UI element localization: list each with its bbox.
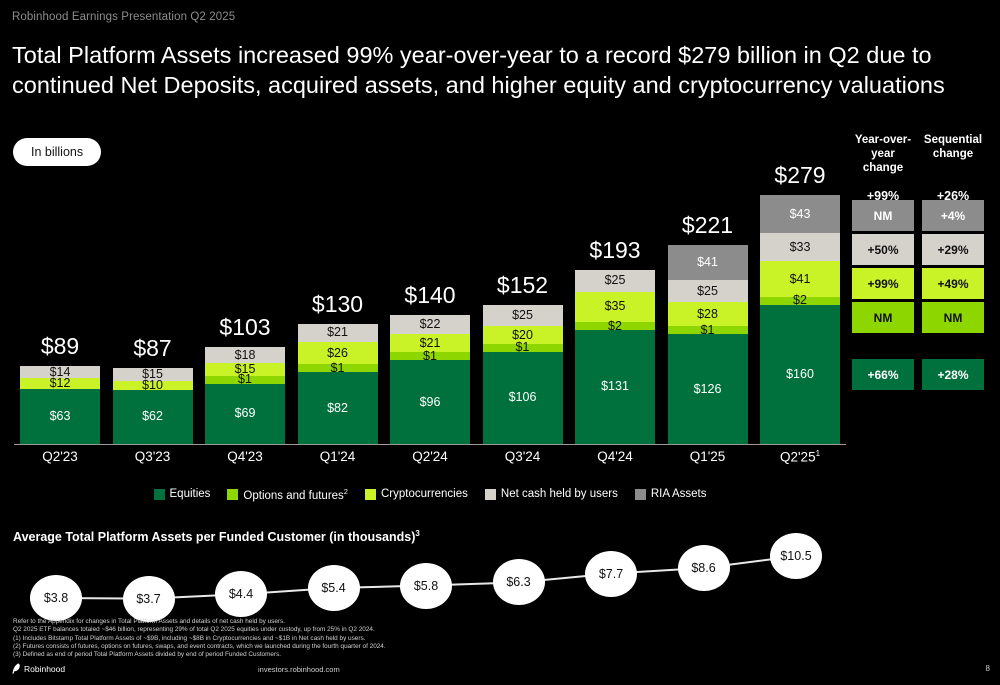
bar-segment-label: $62 xyxy=(142,410,163,423)
legend-swatch-icon xyxy=(227,489,238,500)
x-axis-label-Q225: Q2'251 xyxy=(754,449,846,465)
bar-segment-label: $126 xyxy=(694,383,722,396)
bar-segment-options[interactable]: $1 xyxy=(205,376,285,384)
legend-equities[interactable]: Equities xyxy=(154,488,211,500)
change-row-equities: +66%+28% xyxy=(852,359,984,390)
bar-segment-equities[interactable]: $131 xyxy=(575,330,655,444)
x-axis-label-Q223: Q2'23 xyxy=(14,449,106,464)
bar-segment-equities[interactable]: $82 xyxy=(298,372,378,443)
bar-segment-label: $25 xyxy=(605,274,626,287)
bar-segment-label: $63 xyxy=(50,410,71,423)
footnote-5: (3) Defined as end of period Total Platf… xyxy=(13,651,613,659)
bar-segment-label: $20 xyxy=(512,329,533,342)
bar-segment-label: $25 xyxy=(512,309,533,322)
x-axis-label-Q224: Q2'24 xyxy=(384,449,476,464)
bar-segment-equities[interactable]: $106 xyxy=(483,352,563,444)
line-node-Q224[interactable]: $5.8 xyxy=(400,563,452,609)
bar-segment-label: $22 xyxy=(420,318,441,331)
change-cell-equities-yoy: +66% xyxy=(852,359,914,390)
x-axis-label-Q424: Q4'24 xyxy=(569,449,661,464)
legend-label: RIA Assets xyxy=(651,488,707,500)
bar-segment-options[interactable]: $1 xyxy=(298,364,378,372)
bar-total-label: $279 xyxy=(760,162,840,189)
line-node-Q323[interactable]: $3.7 xyxy=(123,576,175,622)
bar-segment-label: $25 xyxy=(697,285,718,298)
x-axis-label-Q423: Q4'23 xyxy=(199,449,291,464)
stacked-bar-chart: $14$12$63$89$15$10$62$87$18$15$1$69$103$… xyxy=(0,170,860,445)
avg-assets-line-chart: $3.8$3.7$4.4$5.4$5.8$6.3$7.7$8.6$10.5 xyxy=(0,545,860,615)
bar-group-Q125[interactable]: $41$25$28$1$126$221 xyxy=(668,245,748,444)
line-node-Q423[interactable]: $4.4 xyxy=(215,571,267,617)
line-node-Q424[interactable]: $7.7 xyxy=(585,551,637,597)
change-row-spacer xyxy=(852,336,984,359)
x-axis-label-Q323: Q3'23 xyxy=(107,449,199,464)
page-title: Total Platform Assets increased 99% year… xyxy=(12,40,972,100)
bar-segment-options[interactable]: $1 xyxy=(668,326,748,334)
legend-label: Equities xyxy=(170,488,211,500)
line-node-Q223[interactable]: $3.8 xyxy=(30,575,82,621)
yoy-column-header: Year-over- year change xyxy=(852,133,914,175)
bar-segment-equities[interactable]: $160 xyxy=(760,305,840,444)
bar-segment-equities[interactable]: $126 xyxy=(668,334,748,443)
change-cell-crypto-seq: +49% xyxy=(922,268,984,299)
bar-segment-label: $41 xyxy=(790,273,811,286)
bar-segment-label: $43 xyxy=(790,208,811,221)
legend-netcash[interactable]: Net cash held by users xyxy=(485,488,618,500)
bar-segment-label: $35 xyxy=(605,300,626,313)
units-badge: In billions xyxy=(13,138,101,166)
bar-group-Q424[interactable]: $25$35$2$131$193 xyxy=(575,270,655,444)
bar-segment-crypto[interactable]: $41 xyxy=(760,261,840,297)
x-axis-label-Q124: Q1'24 xyxy=(292,449,384,464)
legend-swatch-icon xyxy=(485,489,496,500)
bar-total-label: $103 xyxy=(205,314,285,341)
bar-group-Q224[interactable]: $22$21$1$96$140 xyxy=(390,315,470,444)
bar-segment-equities[interactable]: $69 xyxy=(205,384,285,444)
bar-segment-label: $28 xyxy=(697,308,718,321)
change-cell-ria-yoy: NM xyxy=(852,200,914,231)
brand-name: Robinhood xyxy=(24,664,65,674)
legend-swatch-icon xyxy=(365,489,376,500)
bar-group-Q423[interactable]: $18$15$1$69$103 xyxy=(205,347,285,443)
footnote-1: Refer to the Appendix for changes in Tot… xyxy=(13,618,613,626)
line-node-Q124[interactable]: $5.4 xyxy=(308,565,360,611)
bar-segment-netcash[interactable]: $25 xyxy=(575,270,655,292)
legend-ria[interactable]: RIA Assets xyxy=(635,488,707,500)
bar-segment-crypto[interactable]: $10 xyxy=(113,381,193,390)
legend-crypto[interactable]: Cryptocurrencies xyxy=(365,488,468,500)
bar-segment-netcash[interactable]: $25 xyxy=(483,305,563,327)
x-axis-labels: Q2'23Q3'23Q4'23Q1'24Q2'24Q3'24Q4'24Q1'25… xyxy=(0,449,860,469)
footnote-4: (2) Futures consists of futures, options… xyxy=(13,643,613,651)
investors-url[interactable]: investors.robinhood.com xyxy=(258,665,340,674)
bar-segment-options[interactable]: $1 xyxy=(483,344,563,352)
slide-root: Robinhood Earnings Presentation Q2 2025 … xyxy=(0,0,1000,685)
bar-group-Q223[interactable]: $14$12$63$89 xyxy=(20,366,100,443)
x-axis-label-Q324: Q3'24 xyxy=(477,449,569,464)
slide-footer: Robinhood investors.robinhood.com 8 xyxy=(0,663,1000,679)
bar-segment-netcash[interactable]: $33 xyxy=(760,233,840,262)
bar-total-label: $89 xyxy=(20,333,100,360)
legend-label: Options and futures2 xyxy=(243,487,348,502)
legend-swatch-icon xyxy=(154,489,165,500)
bar-segment-equities[interactable]: $62 xyxy=(113,390,193,444)
line-node-Q125[interactable]: $8.6 xyxy=(678,545,730,591)
change-row-netcash: +50%+29% xyxy=(852,234,984,265)
eyebrow-text: Robinhood Earnings Presentation Q2 2025 xyxy=(12,11,235,23)
bar-group-Q225[interactable]: $43$33$41$2$160$279 xyxy=(760,195,840,443)
bar-segment-crypto[interactable]: $35 xyxy=(575,292,655,322)
change-row-options: NMNM xyxy=(852,302,984,333)
bar-segment-netcash[interactable]: $22 xyxy=(390,315,470,334)
bar-segment-label: $33 xyxy=(790,241,811,254)
legend-options[interactable]: Options and futures2 xyxy=(227,487,348,502)
change-columns: Year-over- year change Sequential change… xyxy=(852,133,1000,203)
bar-total-label: $140 xyxy=(390,282,470,309)
footnote-3: (1) Includes Bitstamp Total Platform Ass… xyxy=(13,635,613,643)
change-cell-netcash-seq: +29% xyxy=(922,234,984,265)
change-row-crypto: +99%+49% xyxy=(852,268,984,299)
change-cell-equities-seq: +28% xyxy=(922,359,984,390)
bar-group-Q323[interactable]: $15$10$62$87 xyxy=(113,368,193,443)
feather-icon xyxy=(12,663,21,674)
x-axis-label-Q125: Q1'25 xyxy=(662,449,754,464)
footnotes: Refer to the Appendix for changes in Tot… xyxy=(13,618,613,659)
bar-total-label: $193 xyxy=(575,237,655,264)
x-axis-line xyxy=(14,444,846,446)
change-cell-options-seq: NM xyxy=(922,302,984,333)
bar-group-Q124[interactable]: $21$26$1$82$130 xyxy=(298,324,378,444)
bar-segment-label: $82 xyxy=(327,402,348,415)
bar-segment-label: $26 xyxy=(327,347,348,360)
change-row-ria: NM+4% xyxy=(852,200,984,231)
change-cell-options-yoy: NM xyxy=(852,302,914,333)
change-cell-netcash-yoy: +50% xyxy=(852,234,914,265)
bar-total-label: $221 xyxy=(668,212,748,239)
bar-segment-equities[interactable]: $63 xyxy=(20,389,100,444)
bar-segment-label: $18 xyxy=(235,349,256,362)
legend-swatch-icon xyxy=(635,489,646,500)
change-cell-crypto-yoy: +99% xyxy=(852,268,914,299)
bar-segment-label: $21 xyxy=(420,337,441,350)
bar-total-label: $152 xyxy=(483,272,563,299)
seq-column-header: Sequential change xyxy=(922,133,984,175)
bar-segment-options[interactable]: $2 xyxy=(575,322,655,330)
bar-segment-label: $41 xyxy=(697,256,718,269)
bar-total-label: $87 xyxy=(113,335,193,362)
legend-label: Net cash held by users xyxy=(501,488,618,500)
line-node-Q324[interactable]: $6.3 xyxy=(493,559,545,605)
bar-segment-crypto[interactable]: $12 xyxy=(20,378,100,388)
bar-segment-label: $69 xyxy=(235,407,256,420)
page-number: 8 xyxy=(986,664,990,673)
bar-segment-ria[interactable]: $43 xyxy=(760,195,840,232)
chart-legend: EquitiesOptions and futures2Cryptocurren… xyxy=(0,487,860,502)
bar-segment-label: $21 xyxy=(327,326,348,339)
change-cell-ria-seq: +4% xyxy=(922,200,984,231)
bar-total-label: $130 xyxy=(298,291,378,318)
bar-segment-options[interactable]: $2 xyxy=(760,297,840,305)
bar-segment-label: $131 xyxy=(601,380,629,393)
bar-group-Q324[interactable]: $25$20$1$106$152 xyxy=(483,305,563,444)
line-chart-title: Average Total Platform Assets per Funded… xyxy=(13,529,420,544)
bar-segment-ria[interactable]: $41 xyxy=(668,245,748,281)
bar-segment-netcash[interactable]: $18 xyxy=(205,347,285,363)
bar-segment-label: $106 xyxy=(509,391,537,404)
footnote-2: Q2 2025 ETF balances totaled ~$46 billio… xyxy=(13,626,613,634)
bar-segment-options[interactable]: $1 xyxy=(390,352,470,360)
robinhood-logo: Robinhood xyxy=(12,663,65,674)
bar-segment-equities[interactable]: $96 xyxy=(390,360,470,443)
bar-segment-netcash[interactable]: $25 xyxy=(668,280,748,302)
bar-segment-label: $96 xyxy=(420,396,441,409)
bar-segment-netcash[interactable]: $21 xyxy=(298,324,378,342)
line-node-Q225[interactable]: $10.5 xyxy=(770,533,822,579)
bar-segment-label: $160 xyxy=(786,368,814,381)
legend-label: Cryptocurrencies xyxy=(381,488,468,500)
